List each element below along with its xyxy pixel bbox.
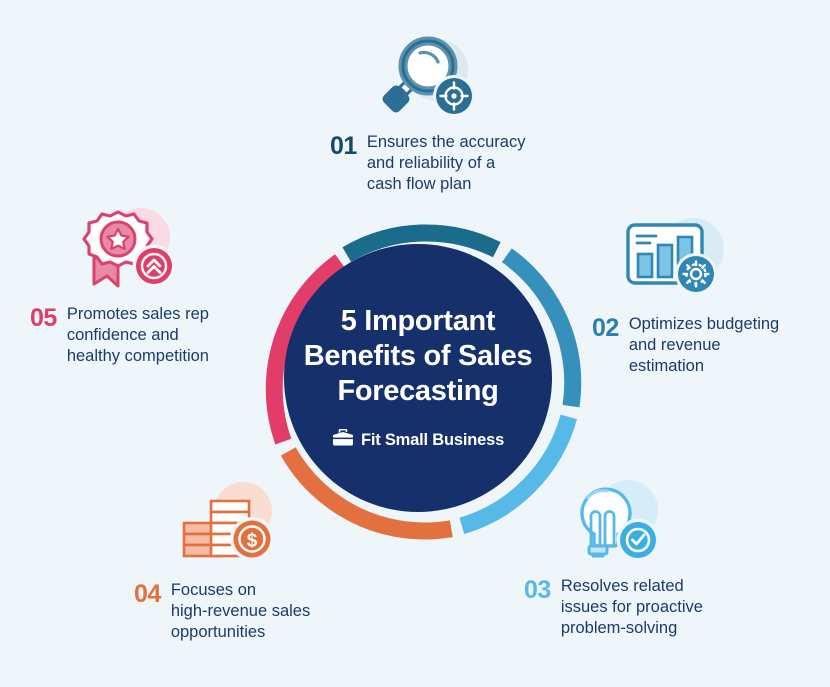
lightbulb-check-icon bbox=[566, 478, 666, 570]
benefit-number-03: 03 bbox=[524, 576, 551, 603]
brand-logo: Fit Small Business bbox=[332, 429, 504, 452]
benefit-number-02: 02 bbox=[592, 314, 619, 341]
text-line-2: high-revenue sales bbox=[171, 602, 310, 620]
text-line-3: healthy competition bbox=[67, 347, 209, 365]
page-title: 5 Important Benefits of Sales Forecastin… bbox=[304, 304, 533, 408]
brand-name: Fit Small Business bbox=[361, 431, 504, 450]
text-line-2: issues for proactive bbox=[561, 598, 703, 616]
title-line-1: 5 Important bbox=[304, 304, 533, 339]
text-line-1: Optimizes budgeting bbox=[629, 315, 779, 333]
magnifying-glass-target-icon bbox=[376, 34, 476, 126]
stacked-coins-icon: $ bbox=[180, 480, 280, 572]
benefit-number-04: 04 bbox=[134, 580, 161, 607]
text-line-3: cash flow plan bbox=[367, 175, 472, 193]
infographic-canvas: 5 Important Benefits of Sales Forecastin… bbox=[0, 0, 830, 687]
text-line-3: opportunities bbox=[171, 623, 265, 641]
benefit-item-01: 01 Ensures the accuracy and reliability … bbox=[330, 34, 570, 195]
title-line-3: Forecasting bbox=[304, 374, 533, 409]
svg-text:$: $ bbox=[247, 531, 258, 552]
title-line-2: Benefits of Sales bbox=[304, 339, 533, 374]
benefit-text-02: Optimizes budgeting and revenue estimati… bbox=[629, 314, 779, 377]
bar-chart-gear-icon bbox=[624, 216, 724, 308]
briefcase-icon bbox=[332, 429, 354, 452]
award-ribbon-star-icon bbox=[78, 206, 178, 298]
benefit-caption-05: 05 Promotes sales rep confidence and hea… bbox=[30, 304, 265, 367]
benefit-text-04: Focuses on high-revenue sales opportunit… bbox=[171, 580, 310, 643]
benefit-number-01: 01 bbox=[330, 132, 357, 159]
donut-center-core: 5 Important Benefits of Sales Forecastin… bbox=[284, 244, 552, 512]
benefit-item-03: 03 Resolves related issues for proactive… bbox=[524, 478, 754, 639]
text-line-1: Promotes sales rep bbox=[67, 305, 209, 323]
text-line-3: problem-solving bbox=[561, 619, 677, 637]
text-line-3: estimation bbox=[629, 357, 704, 375]
benefit-text-03: Resolves related issues for proactive pr… bbox=[561, 576, 703, 639]
benefit-caption-03: 03 Resolves related issues for proactive… bbox=[524, 576, 754, 639]
text-line-1: Focuses on bbox=[171, 581, 256, 599]
benefit-caption-01: 01 Ensures the accuracy and reliability … bbox=[330, 132, 570, 195]
text-line-1: Ensures the accuracy bbox=[367, 133, 526, 151]
benefit-number-05: 05 bbox=[30, 304, 57, 331]
benefit-text-05: Promotes sales rep confidence and health… bbox=[67, 304, 209, 367]
benefit-item-04: $ 04 Focuses on high-revenue sales oppor… bbox=[134, 480, 364, 643]
text-line-2: and reliability of a bbox=[367, 154, 495, 172]
benefit-caption-04: 04 Focuses on high-revenue sales opportu… bbox=[134, 580, 364, 643]
text-line-2: confidence and bbox=[67, 326, 179, 344]
benefit-text-01: Ensures the accuracy and reliability of … bbox=[367, 132, 526, 195]
benefit-item-05: 05 Promotes sales rep confidence and hea… bbox=[30, 206, 265, 367]
text-line-1: Resolves related bbox=[561, 577, 684, 595]
text-line-2: and revenue bbox=[629, 336, 721, 354]
benefit-item-02: 02 Optimizes budgeting and revenue estim… bbox=[592, 216, 822, 377]
benefit-caption-02: 02 Optimizes budgeting and revenue estim… bbox=[592, 314, 822, 377]
